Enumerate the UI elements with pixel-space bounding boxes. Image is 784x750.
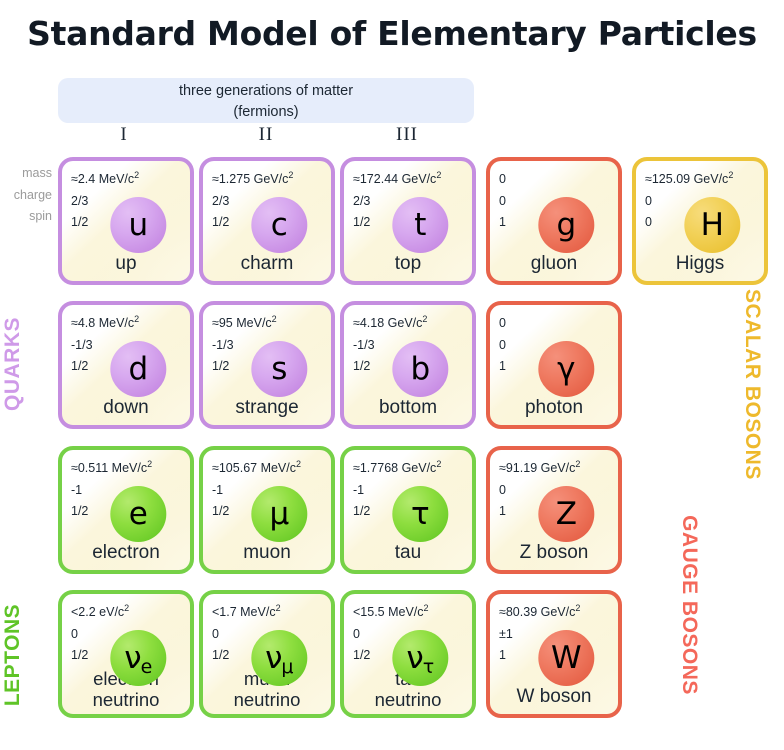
particle-stats: 0 0 1 [499, 169, 506, 234]
particle-name-line2: neutrino [62, 689, 190, 710]
particle-cell-bottom[interactable]: ≈4.18 GeV/c2 -1/3 1/2 b bottom [340, 301, 476, 429]
particle-symbol-orb: γ [538, 341, 594, 397]
particle-cell-up[interactable]: ≈2.4 MeV/c2 2/3 1/2 u up [58, 157, 194, 285]
category-label-scalar-bosons: SCALAR BOSONS [740, 289, 764, 479]
particle-mass: ≈4.18 GeV/c2 [353, 313, 427, 335]
particle-cell-electron-neutrino[interactable]: <2.2 eV/c2 0 1/2 νe electron neutrino [58, 590, 194, 718]
particle-mass: ≈172.44 GeV/c2 [353, 169, 441, 191]
particle-symbol-orb: Z [538, 486, 594, 542]
particle-symbol-orb: b [392, 341, 448, 397]
particle-symbol: d [128, 351, 148, 387]
generation-numeral-2: II [236, 124, 296, 146]
particle-name-line2: neutrino [203, 689, 331, 710]
particle-name: strange [203, 397, 331, 418]
category-label-quarks: QUARKS [1, 304, 25, 424]
particle-symbol-orb: g [538, 197, 594, 253]
particle-symbol-subscript: μ [281, 656, 293, 686]
particle-cell-tau-neutrino[interactable]: <15.5 MeV/c2 0 1/2 ντ tau neutrino [340, 590, 476, 718]
particle-cell-strange[interactable]: ≈95 MeV/c2 -1/3 1/2 s strange [199, 301, 335, 429]
particle-cell-charm[interactable]: ≈1.275 GeV/c2 2/3 1/2 c charm [199, 157, 335, 285]
generations-header: three generations of matter (fermions) [58, 78, 474, 123]
particle-symbol: Z [556, 496, 577, 532]
particle-symbol: u [128, 207, 148, 243]
property-label-spin: spin [0, 206, 58, 228]
particle-symbol: ν [124, 640, 141, 676]
particle-charge: 0 [499, 335, 506, 357]
particle-cell-w-boson[interactable]: ≈80.39 GeV/c2 ±1 1 W W boson [486, 590, 622, 718]
particle-symbol-orb: u [110, 197, 166, 253]
particle-symbol-orb: ντ [392, 630, 448, 686]
generations-header-line1: three generations of matter [58, 81, 474, 102]
particle-symbol-subscript: e [141, 656, 153, 686]
particle-mass: ≈95 MeV/c2 [212, 313, 277, 335]
particle-mass: ≈2.4 MeV/c2 [71, 169, 139, 191]
particle-symbol: ν [406, 640, 423, 676]
particle-name: top [344, 253, 472, 274]
particle-symbol-orb: νe [110, 630, 166, 686]
particle-spin: 1 [499, 212, 506, 234]
particle-cell-down[interactable]: ≈4.8 MeV/c2 -1/3 1/2 d down [58, 301, 194, 429]
particle-symbol-orb: H [684, 197, 740, 253]
particle-symbol-orb: τ [392, 486, 448, 542]
particle-charge: 0 [499, 191, 506, 213]
particle-symbol-orb: s [251, 341, 307, 397]
particle-name: down [62, 397, 190, 418]
particle-mass: ≈80.39 GeV/c2 [499, 602, 580, 624]
particle-name: Higgs [636, 253, 764, 274]
particle-symbol: γ [557, 351, 575, 387]
particle-symbol-orb: νμ [251, 630, 307, 686]
particle-stats: 0 0 1 [499, 313, 506, 378]
generation-numeral-3: III [377, 124, 437, 146]
particle-mass: ≈105.67 MeV/c2 [212, 458, 301, 480]
particle-symbol: g [556, 207, 576, 243]
particle-name: electron [62, 542, 190, 563]
category-label-gauge-bosons: GAUGE BOSONS [677, 515, 701, 695]
particle-spin: 1 [499, 356, 506, 378]
particle-symbol-orb: e [110, 486, 166, 542]
particle-mass: 0 [499, 169, 506, 191]
particle-cell-z-boson[interactable]: ≈91.19 GeV/c2 0 1 Z Z boson [486, 446, 622, 574]
particle-symbol-orb: c [251, 197, 307, 253]
particle-cell-muon[interactable]: ≈105.67 MeV/c2 -1 1/2 μ muon [199, 446, 335, 574]
particle-name: charm [203, 253, 331, 274]
particle-symbol: b [410, 351, 430, 387]
particle-mass: <1.7 MeV/c2 [212, 602, 281, 624]
particle-symbol: e [129, 496, 148, 532]
particle-mass: ≈91.19 GeV/c2 [499, 458, 580, 480]
particle-mass: <2.2 eV/c2 [71, 602, 129, 624]
generation-numeral-1: I [94, 124, 154, 146]
particle-cell-photon[interactable]: 0 0 1 γ photon [486, 301, 622, 429]
particle-mass: <15.5 MeV/c2 [353, 602, 429, 624]
particle-cell-top[interactable]: ≈172.44 GeV/c2 2/3 1/2 t top [340, 157, 476, 285]
particle-symbol: H [701, 207, 724, 243]
particle-symbol-orb: t [392, 197, 448, 253]
particle-mass: ≈1.7768 GeV/c2 [353, 458, 441, 480]
particle-name: W boson [490, 686, 618, 707]
particle-name: muon [203, 542, 331, 563]
particle-symbol: τ [411, 496, 430, 532]
particle-cell-electron[interactable]: ≈0.511 MeV/c2 -1 1/2 e electron [58, 446, 194, 574]
particle-symbol: t [414, 207, 426, 243]
particle-name: photon [490, 397, 618, 418]
particle-cell-tau[interactable]: ≈1.7768 GeV/c2 -1 1/2 τ tau [340, 446, 476, 574]
particle-symbol-subscript: τ [423, 656, 434, 686]
particle-symbol-orb: W [538, 630, 594, 686]
particle-symbol: W [551, 640, 582, 676]
particle-name: tau [344, 542, 472, 563]
generations-header-line2: (fermions) [58, 102, 474, 123]
particle-mass: ≈125.09 GeV/c2 [645, 169, 733, 191]
particle-mass: 0 [499, 313, 506, 335]
particle-cell-muon-neutrino[interactable]: <1.7 MeV/c2 0 1/2 νμ muon neutrino [199, 590, 335, 718]
particle-symbol-orb: μ [251, 486, 307, 542]
particle-cell-gluon[interactable]: 0 0 1 g gluon [486, 157, 622, 285]
particle-name: gluon [490, 253, 618, 274]
category-label-leptons: LEPTONS [1, 591, 25, 719]
particle-name-line2: neutrino [344, 689, 472, 710]
page-title: Standard Model of Elementary Particles [0, 14, 784, 53]
particle-mass: ≈1.275 GeV/c2 [212, 169, 293, 191]
particle-mass: ≈4.8 MeV/c2 [71, 313, 139, 335]
property-label-charge: charge [0, 185, 58, 207]
particle-symbol: s [271, 351, 287, 387]
particle-cell-higgs[interactable]: ≈125.09 GeV/c2 0 0 H Higgs [632, 157, 768, 285]
property-label-mass: mass [0, 163, 58, 185]
property-labels: mass charge spin [0, 163, 58, 228]
particle-symbol: ν [265, 640, 282, 676]
particle-symbol: c [271, 207, 288, 243]
particle-name: bottom [344, 397, 472, 418]
particle-mass: ≈0.511 MeV/c2 [71, 458, 152, 480]
particle-symbol: μ [269, 496, 289, 532]
particle-name: Z boson [490, 542, 618, 563]
particle-symbol-orb: d [110, 341, 166, 397]
particle-name: up [62, 253, 190, 274]
